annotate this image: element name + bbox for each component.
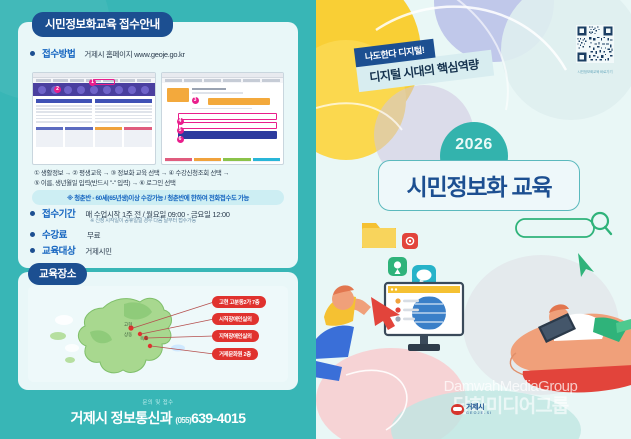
section-title-registration: 시민정보화교육 접수안내: [32, 12, 173, 37]
target-row: 교육대상 거제시민: [30, 243, 112, 257]
monitor-illustration: [385, 283, 463, 351]
fee-value: 무료: [87, 230, 100, 241]
map-label-1: 고현 고분동2가 7층: [212, 296, 266, 308]
left-panel: 시민정보화교육 접수안내 접수방법 거제시 홈페이지 www.geoje.go.…: [0, 0, 316, 439]
brochure-page: 시민정보화교육 접수안내 접수방법 거제시 홈페이지 www.geoje.go.…: [0, 0, 631, 439]
target-value: 거제시민: [85, 246, 111, 257]
method-value: 거제시 홈페이지 www.geoje.go.kr: [84, 49, 184, 60]
location-app-icon: [388, 257, 407, 276]
target-label: 교육대상: [42, 243, 75, 257]
location-card: 교육장소: [18, 272, 298, 390]
qr-code-icon[interactable]: [576, 25, 614, 63]
footer-dept: 거제시 정보통신과: [71, 410, 173, 426]
right-panel: 시민정보화교육 바로가기 나도한다 디지털! 디지털 시대의 핵심역량 2026…: [316, 0, 631, 439]
bullet-dot-icon: [30, 248, 35, 253]
fee-row: 수강료 무료: [30, 227, 100, 241]
step-line-2: ⑤ 이름, 생년월일 입력(반드시 "-" 입력) → ⑥ 로그인 선택: [34, 179, 284, 189]
svg-text:고현: 고현: [124, 321, 132, 328]
city-logo-text: 거제시: [466, 404, 492, 411]
map-label-3: 지역장애인실외: [212, 330, 259, 342]
city-emblem-icon: [451, 404, 464, 415]
period-subnote: ※ 신청 시작일이 공휴일일 경우 다음 날부터 접수가능: [90, 217, 196, 224]
registration-card: 시민정보화교육 접수안내 접수방법 거제시 홈페이지 www.geoje.go.…: [18, 22, 298, 268]
step-badge-1: 1: [89, 79, 96, 86]
footer-phone-prefix: (055): [175, 416, 191, 425]
fee-label: 수강료: [42, 227, 67, 241]
bullet-dot-icon: [30, 51, 35, 56]
method-label: 접수방법: [42, 46, 75, 60]
step-line-1: ① 생활정보 → ② 평생교육 → ③ 정보화 교육 선택 → ④ 수강신청조회…: [34, 169, 284, 179]
screenshot-homepage: 1 2: [32, 72, 156, 165]
website-screenshots: 1 2: [32, 72, 284, 165]
left-footer: 문의 및 접수 거제시 정보통신과 (055)639-4015: [0, 398, 316, 428]
bottom-cards: [33, 127, 155, 147]
map-label-4: 거제문화원 2층: [212, 348, 258, 360]
board-area: [33, 96, 155, 127]
step-badge-6: 6: [177, 136, 184, 143]
folder-icon: [362, 223, 396, 248]
highlight-menu-box: [93, 79, 115, 85]
bullet-dot-icon: [30, 232, 35, 237]
step-badge-3: 3: [192, 97, 199, 104]
photo-app-icon: [402, 233, 418, 249]
step-badge-2: 2: [54, 86, 61, 93]
side-menu: [167, 88, 189, 102]
city-logo-sub: GEOJE-SI: [466, 411, 492, 415]
qr-code-block[interactable]: 시민정보화교육 바로가기: [575, 25, 615, 75]
board-right: [95, 99, 151, 124]
period-label: 접수기간: [42, 206, 75, 220]
method-row: 접수방법 거제시 홈페이지 www.geoje.go.kr: [30, 46, 185, 60]
step-badge-5: 5: [177, 127, 184, 134]
step-badge-4: 4: [177, 118, 184, 125]
footer-phone: 639-4015: [191, 410, 245, 426]
step-instructions: ① 생활정보 → ② 평생교육 → ③ 정보화 교육 선택 → ④ 수강신청조회…: [34, 169, 284, 189]
board-left: [36, 99, 92, 124]
birth-input: [178, 122, 278, 129]
footer-contact-line: 거제시 정보통신과 (055)639-4015: [0, 408, 316, 428]
section-title-location: 교육장소: [28, 263, 87, 285]
geoje-city-logo: 거제시 GEOJE-SI: [451, 404, 492, 415]
bullet-dot-icon: [30, 211, 35, 216]
search-bar-illustration: [516, 213, 611, 237]
svg-text:옥포: 옥포: [140, 336, 148, 342]
map-label-2: 시직장애인실외: [212, 313, 259, 325]
svg-text:상동: 상동: [124, 331, 132, 338]
main-title: 시민정보화 교육: [378, 160, 580, 211]
age-note-bar: ※ 청춘반 - 60세(65년생)이상 수강가능 / 청춘반에 한하여 전화접수…: [32, 190, 284, 205]
footer-contact-label: 문의 및 접수: [0, 398, 316, 406]
qr-caption: 시민정보화교육 바로가기: [575, 70, 615, 75]
name-input: [178, 113, 278, 120]
footer-strip: [162, 158, 284, 162]
search-button-row: [208, 98, 271, 105]
geoje-map: 고현 상동 옥포 고현 고분동2가 7층 시직장애인실외 지역장애인실외 거제문…: [28, 286, 288, 382]
login-button: [178, 131, 278, 139]
screenshot-application: 3 4 5 6: [161, 72, 285, 165]
